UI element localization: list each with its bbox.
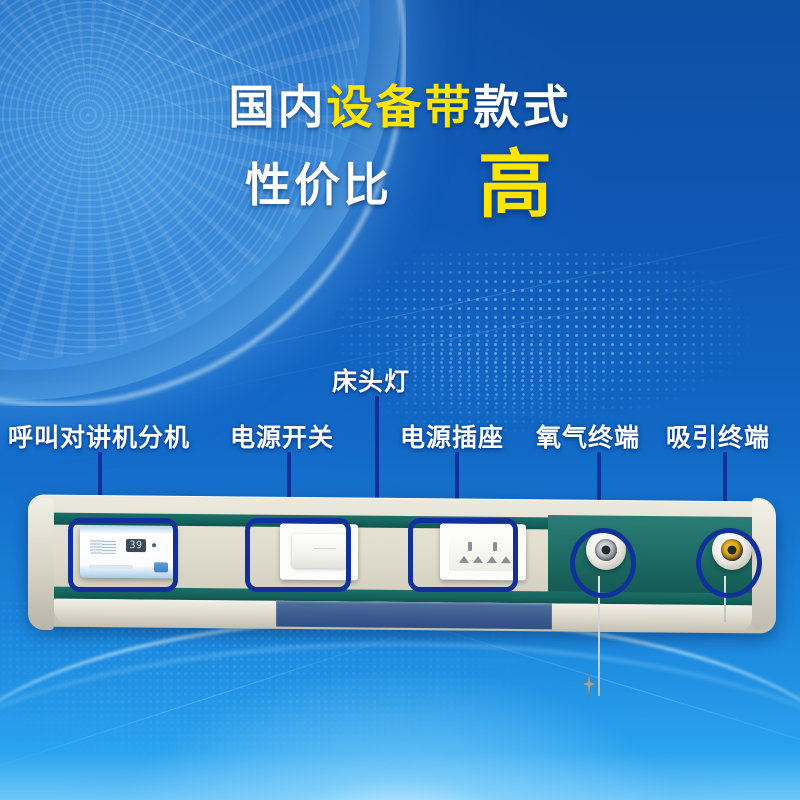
highlight-box-power-socket <box>408 518 518 592</box>
banner-canvas: 国内设备带款式 性价比 高 呼叫对讲机分机 电源开关 床头灯 电源插座 氧气终端… <box>0 0 800 800</box>
callout-label-power-socket: 电源插座 <box>400 418 504 454</box>
bed-lamp-diffuser <box>276 601 552 630</box>
highlight-circle-suction <box>696 528 762 598</box>
headline-text-white-b: 款式 <box>474 81 572 133</box>
callout-label-oxygen: 氧气终端 <box>536 418 640 454</box>
callout-label-suction: 吸引终端 <box>666 418 770 454</box>
callout-label-intercom: 呼叫对讲机分机 <box>8 418 190 454</box>
headline-subtext-white: 性价比 <box>245 162 392 208</box>
callout-label-power-switch: 电源开关 <box>230 418 334 454</box>
headline-block: 国内设备带款式 性价比 高 <box>0 84 800 219</box>
highlight-box-power-switch <box>245 518 351 592</box>
callout-label-bed-lamp: 床头灯 <box>332 362 410 398</box>
headline-text-yellow: 设备带 <box>327 81 474 133</box>
headline-line-2: 性价比 高 <box>0 152 800 219</box>
hanging-hook-icon <box>581 672 597 698</box>
headline-line-1: 国内设备带款式 <box>0 84 800 130</box>
highlight-circle-oxygen <box>570 528 636 598</box>
headline-subtext-yellow: 高 <box>478 152 555 219</box>
headline-text-white-a: 国内 <box>229 81 327 133</box>
panel-end-cap-left <box>28 498 54 630</box>
bottom-light-bloom <box>90 660 710 800</box>
highlight-box-intercom <box>68 518 178 592</box>
